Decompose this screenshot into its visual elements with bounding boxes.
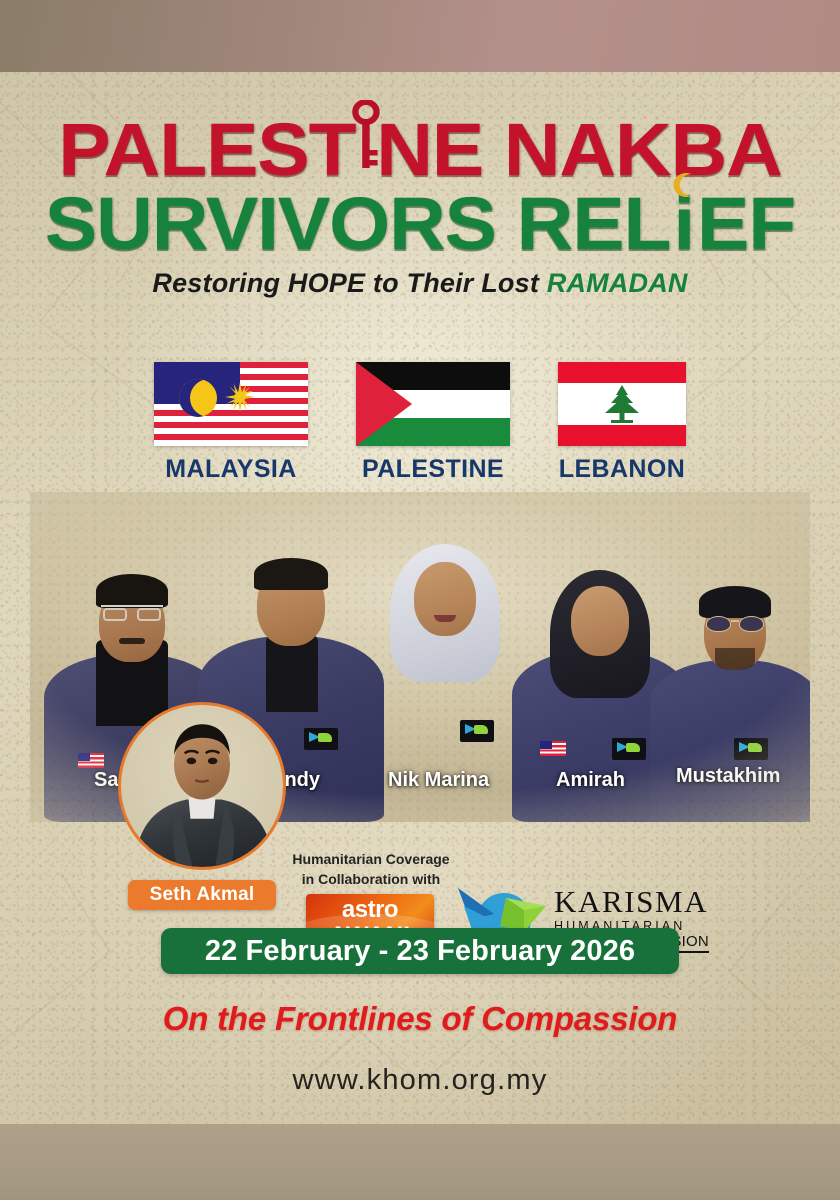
malaysia-flag-icon: [154, 362, 308, 446]
poster-root: PALEST INE NAKBA SURVIVORS REL iEF Resto…: [0, 0, 840, 1200]
bandana: [699, 586, 771, 618]
subtitle: Restoring HOPE to Their Lost RAMADAN: [0, 268, 840, 299]
key-icon: [352, 100, 380, 170]
flag-label-palestine: PALESTINE: [356, 455, 510, 484]
website-url[interactable]: www.khom.org.my: [0, 1064, 840, 1097]
title-block: PALEST INE NAKBA SURVIVORS REL iEF: [0, 116, 840, 258]
karisma-patch: [734, 738, 768, 760]
smile: [434, 615, 456, 622]
karisma-patch: [612, 738, 646, 760]
karisma-patch: [304, 728, 338, 750]
astro-wordmark: astro: [306, 896, 434, 924]
flag-cell-malaysia: MALAYSIA: [154, 362, 308, 484]
face: [414, 562, 476, 636]
team-member-name: Mustakhim: [676, 765, 780, 788]
team-member-name: Nik Marina: [388, 769, 489, 792]
key-icon-wrap: I: [356, 116, 377, 184]
flags-row: MALAYSIA PALESTINE: [0, 362, 840, 484]
malaysia-star-icon: [225, 382, 255, 412]
featured-portrait: [118, 702, 286, 870]
glasses-icon: [101, 605, 163, 620]
flag-label-malaysia: MALAYSIA: [154, 455, 308, 484]
beard: [715, 648, 755, 670]
flag-cell-lebanon: LEBANON: [558, 362, 686, 484]
title-line-2: SURVIVORS REL iEF: [0, 190, 840, 258]
flag-cell-palestine: PALESTINE: [356, 362, 510, 484]
lebanon-flag-icon: [558, 362, 686, 446]
tagline: On the Frontlines of Compassion: [0, 1000, 840, 1038]
featured-name-badge: Seth Akmal: [128, 880, 276, 910]
featured-member-seth-akmal: Seth Akmal: [106, 694, 298, 924]
team-member-nik-marina: Nik Marina: [352, 530, 538, 822]
team-member-mustakhim: Mustakhim: [650, 576, 820, 822]
karisma-wordmark: KARISMA: [554, 886, 734, 917]
top-border-band: [0, 0, 840, 72]
coverage-line-2: in Collaboration with: [282, 870, 460, 890]
crescent-icon-wrap: i: [670, 190, 697, 258]
date-banner: 22 February - 23 February 2026: [161, 928, 679, 974]
malaysia-flag-patch: [540, 741, 566, 756]
malaysia-flag-patch: [78, 753, 104, 768]
coverage-line-1: Humanitarian Coverage: [282, 850, 460, 870]
face: [571, 586, 629, 656]
karisma-patch: [460, 720, 494, 742]
flag-label-lebanon: LEBANON: [558, 455, 686, 484]
subtitle-highlight: RAMADAN: [547, 268, 688, 298]
featured-portrait-image: [121, 705, 283, 867]
sunglasses-icon: [706, 616, 764, 632]
bottom-border-band: [0, 1124, 840, 1200]
hair: [96, 574, 168, 608]
title-line-2-part-b: EF: [697, 182, 795, 265]
date-range-text: 22 February - 23 February 2026: [205, 935, 635, 968]
coverage-caption: Humanitarian Coverage in Collaboration w…: [282, 850, 460, 890]
title-line-1: PALEST INE NAKBA: [0, 116, 840, 184]
crescent-moon-icon: [668, 170, 700, 200]
title-line-1-part-a: PALEST: [58, 108, 355, 191]
cedar-tree-icon: [601, 384, 643, 424]
palestine-flag-icon: [356, 362, 510, 446]
subtitle-main: Restoring HOPE to Their Lost: [152, 268, 546, 298]
poster-body: PALEST INE NAKBA SURVIVORS REL iEF Resto…: [0, 72, 840, 1124]
moustache: [119, 638, 145, 644]
title-line-2-part-a: SURVIVORS REL: [45, 182, 670, 265]
title-line-1-part-b: NE NAKBA: [376, 108, 782, 191]
team-member-name: Amirah: [556, 769, 625, 792]
hair: [254, 558, 328, 590]
